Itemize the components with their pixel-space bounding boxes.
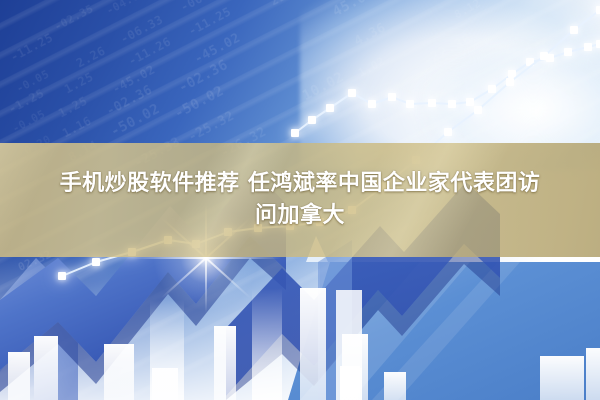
white-bar (8, 352, 30, 400)
title-line-2: 问加拿大 (255, 200, 345, 232)
white-bar (152, 368, 178, 400)
banner-title: 手机炒股软件推荐 任鸿斌率中国企业家代表团访 问加拿大 (0, 143, 600, 257)
white-bar (384, 372, 406, 400)
white-bar (342, 334, 368, 400)
white-bar (104, 344, 134, 400)
white-bar (586, 348, 600, 400)
white-bar (34, 336, 58, 400)
article-banner: -04.06-06.3521.0645.028.12-02.35-06.33-1… (0, 0, 600, 400)
white-bar (540, 356, 584, 400)
title-line-1: 手机炒股软件推荐 任鸿斌率中国企业家代表团访 (60, 168, 541, 200)
white-bar (214, 326, 236, 400)
white-bar (300, 288, 326, 400)
